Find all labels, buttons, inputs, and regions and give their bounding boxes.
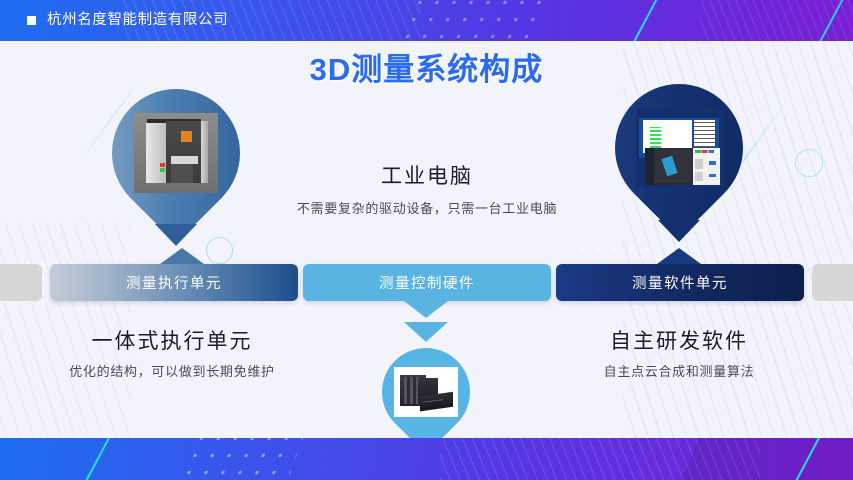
machine-photo bbox=[134, 113, 218, 193]
center-text-block: 工业电脑 不需要复杂的驱动设备，只需一台工业电脑 bbox=[288, 160, 566, 219]
slide-canvas: 杭州名度智能制造有限公司 3D测量系统构成 bbox=[0, 0, 853, 480]
bar-measurement-execution-unit[interactable]: 测量执行单元 bbox=[50, 264, 298, 301]
right-body: 自主点云合成和测量算法 bbox=[540, 362, 818, 382]
header-dot-grid bbox=[393, 0, 544, 41]
company-branding: 杭州名度智能制造有限公司 bbox=[27, 13, 228, 28]
status-chips bbox=[695, 150, 719, 153]
machine-logo-icon bbox=[181, 131, 192, 142]
panel-button-1 bbox=[709, 161, 716, 164]
machine-led-red-icon bbox=[160, 163, 165, 167]
model-left-panel bbox=[645, 148, 655, 185]
thumbnail-1 bbox=[695, 159, 703, 169]
industrial-pc-illustration bbox=[394, 367, 458, 417]
left-heading: 一体式执行单元 bbox=[36, 325, 308, 355]
bar-measurement-control-hardware[interactable]: 测量控制硬件 bbox=[303, 264, 551, 301]
bar-right-label: 测量软件单元 bbox=[632, 272, 728, 293]
bar-measurement-software-unit[interactable]: 测量软件单元 bbox=[556, 264, 804, 301]
footer-dot-grid bbox=[174, 438, 306, 480]
page-title: 3D测量系统构成 bbox=[0, 44, 853, 89]
industrial-pc-photo bbox=[394, 367, 458, 417]
center-heading: 工业电脑 bbox=[288, 160, 566, 190]
software-screenshot-photo bbox=[636, 108, 722, 188]
left-text-block: 一体式执行单元 优化的结构，可以做到长期免维护 bbox=[36, 325, 308, 382]
right-heading: 自主研发软件 bbox=[540, 325, 818, 355]
machine-left-column bbox=[146, 123, 166, 184]
header-cyan-line-1 bbox=[621, 0, 665, 41]
3d-model bbox=[661, 156, 677, 176]
panel-button-2 bbox=[709, 174, 716, 177]
bar-edge-left bbox=[0, 264, 42, 301]
bar-center-label: 测量控制硬件 bbox=[379, 272, 475, 293]
connector-arrow-right bbox=[658, 220, 700, 242]
model-window bbox=[645, 148, 721, 185]
machine-right-column bbox=[201, 121, 208, 183]
square-bullet-icon bbox=[27, 16, 36, 25]
model-viewport bbox=[654, 149, 692, 183]
footer-cyan-line-1 bbox=[74, 438, 120, 480]
connector-arrow-left bbox=[155, 224, 197, 246]
point-cloud-scan bbox=[650, 127, 661, 149]
bar-center-notch-icon bbox=[404, 301, 448, 318]
footer-bar bbox=[0, 438, 853, 480]
bar-left-notch-icon bbox=[160, 248, 204, 264]
company-name: 杭州名度智能制造有限公司 bbox=[47, 13, 228, 28]
left-body: 优化的结构，可以做到长期免维护 bbox=[36, 362, 308, 382]
bar-right-notch-icon bbox=[657, 248, 701, 264]
pc-front-unit bbox=[420, 392, 453, 412]
measurement-machine-illustration bbox=[134, 113, 218, 193]
pc-front-slot bbox=[422, 399, 442, 404]
scan-parameters-panel bbox=[694, 120, 715, 147]
ring-decoration-center bbox=[206, 237, 233, 264]
thumbnail-2 bbox=[695, 172, 703, 182]
bar-left-label: 测量执行单元 bbox=[126, 272, 222, 293]
model-right-panel bbox=[693, 148, 720, 185]
machine-tray bbox=[171, 156, 198, 164]
center-body: 不需要复杂的驱动设备，只需一台工业电脑 bbox=[288, 199, 566, 219]
ring-decoration-right bbox=[795, 149, 823, 177]
connector-arrow-center bbox=[404, 322, 448, 342]
right-text-block: 自主研发软件 自主点云合成和测量算法 bbox=[540, 325, 818, 382]
bar-edge-right bbox=[812, 264, 853, 301]
scan-window-titlebar bbox=[639, 113, 718, 118]
footer-shade bbox=[677, 438, 853, 480]
machine-led-green-icon bbox=[160, 168, 165, 172]
machine-drawer bbox=[171, 164, 193, 183]
software-ui-illustration bbox=[636, 108, 722, 188]
